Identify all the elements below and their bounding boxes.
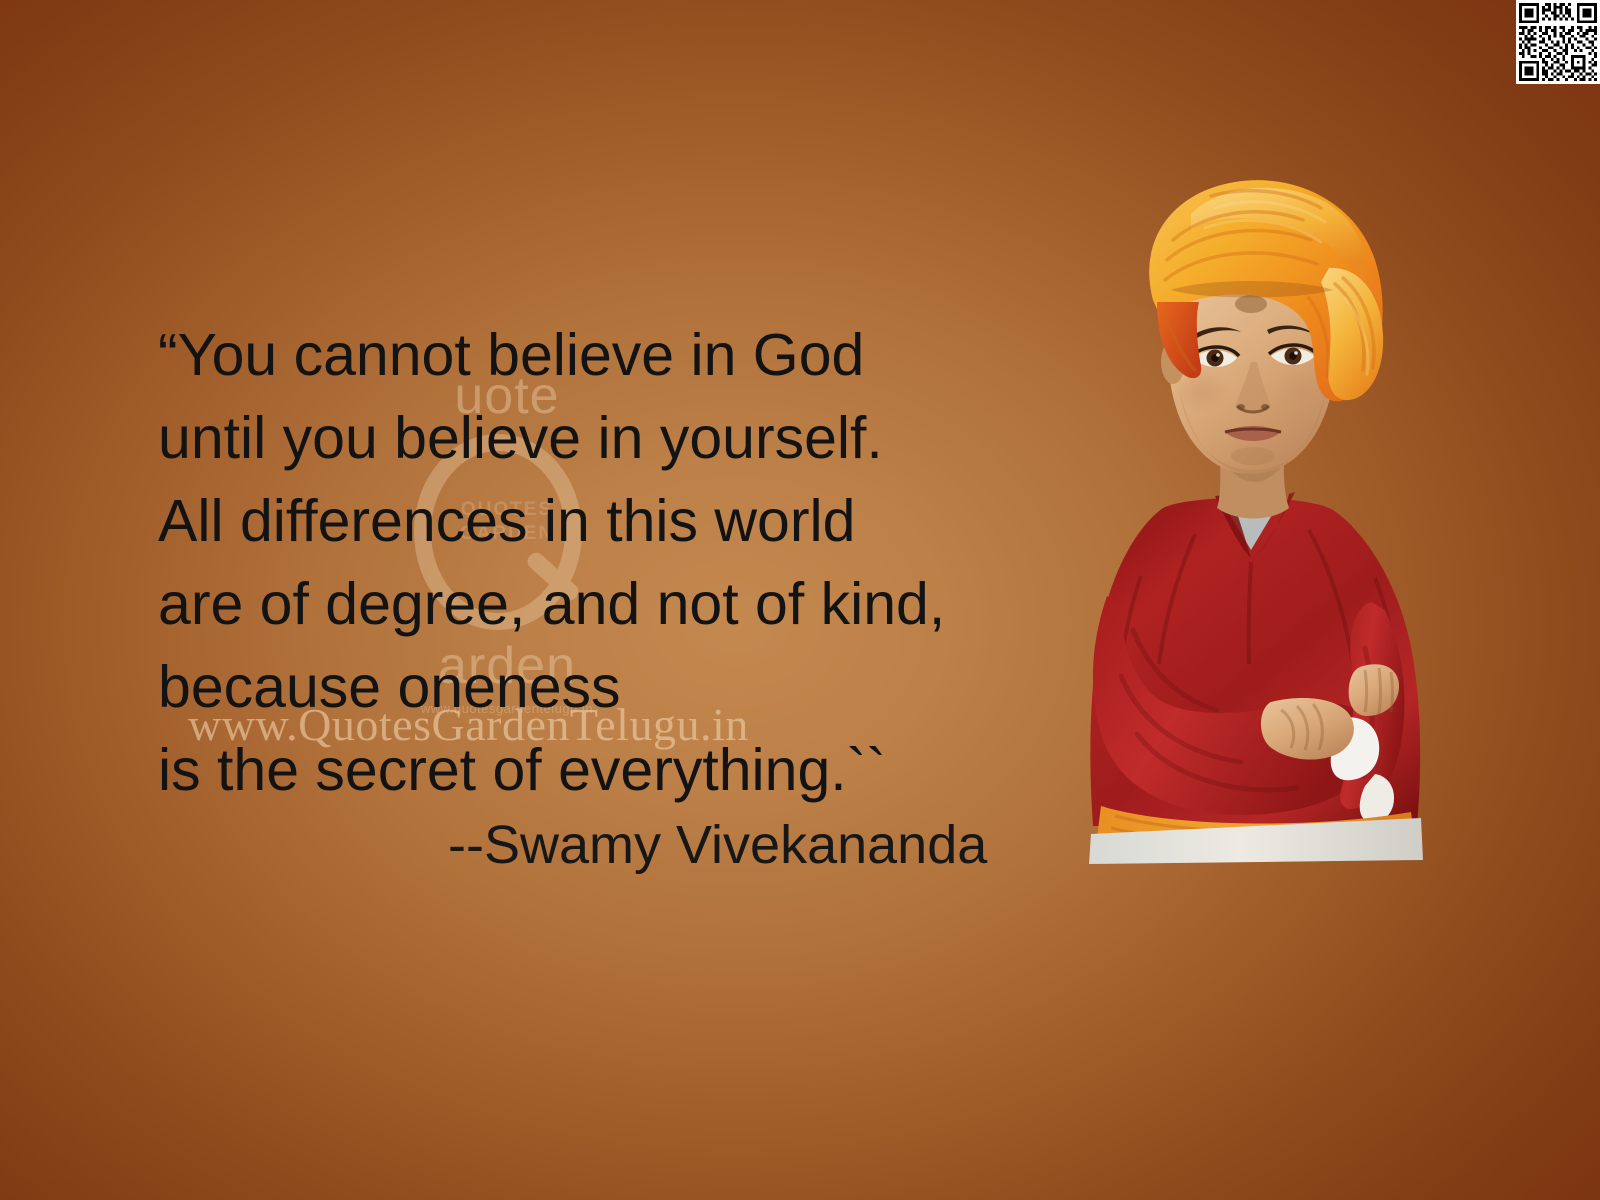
swami-vivekananda-portrait bbox=[1045, 178, 1465, 868]
forehead-mark bbox=[1235, 295, 1267, 313]
quote-attribution: --Swamy Vivekananda bbox=[448, 812, 987, 878]
qr-code-icon[interactable] bbox=[1516, 0, 1600, 84]
quote-line: is the secret of everything.`` bbox=[158, 729, 1078, 812]
quote-line: are of degree, and not of kind, bbox=[158, 563, 1078, 646]
quote-text-block: “You cannot believe in God until you bel… bbox=[158, 314, 1078, 812]
nostril-left bbox=[1237, 404, 1245, 410]
chin-shadow bbox=[1231, 447, 1275, 465]
nostril-right bbox=[1261, 404, 1269, 410]
quote-poster: uote QUOTES GARDEN arden www.quotesgarde… bbox=[0, 0, 1600, 1200]
eye-highlight-left bbox=[1216, 353, 1220, 357]
cheek-left bbox=[1175, 370, 1231, 414]
quote-line: because oneness bbox=[158, 646, 1078, 729]
eye-highlight-right bbox=[1294, 351, 1298, 355]
quote-line: “You cannot believe in God bbox=[158, 314, 1078, 397]
quote-line: until you believe in yourself. bbox=[158, 397, 1078, 480]
quote-line: All differences in this world bbox=[158, 480, 1078, 563]
